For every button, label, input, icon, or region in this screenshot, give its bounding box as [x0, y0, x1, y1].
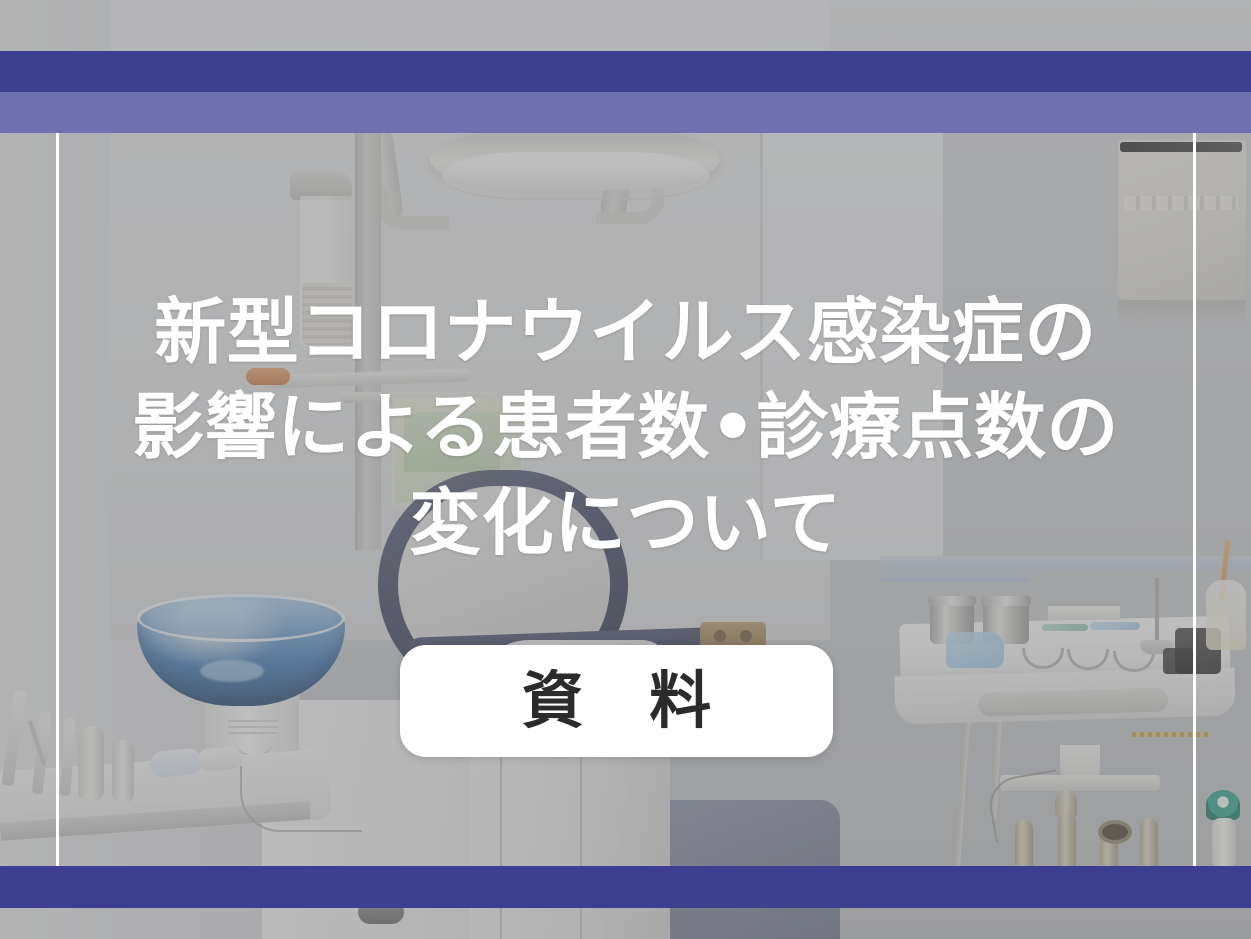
title-line-3: 変化について — [0, 487, 1251, 560]
document-type-badge-label: 資 料 — [500, 670, 734, 732]
document-type-badge: 資 料 — [400, 645, 833, 757]
title-slide: 新型コロナウイルス感染症の 影響による患者数•診療点数の 変化について 資 料 — [0, 0, 1251, 939]
slide-title: 新型コロナウイルス感染症の 影響による患者数•診療点数の 変化について — [0, 296, 1251, 560]
title-line-2: 影響による患者数•診療点数の — [0, 391, 1251, 464]
bottom-dark-band — [0, 866, 1251, 908]
title-line-1: 新型コロナウイルス感染症の — [0, 296, 1251, 369]
top-dark-band — [0, 51, 1251, 92]
top-light-band — [0, 92, 1251, 133]
